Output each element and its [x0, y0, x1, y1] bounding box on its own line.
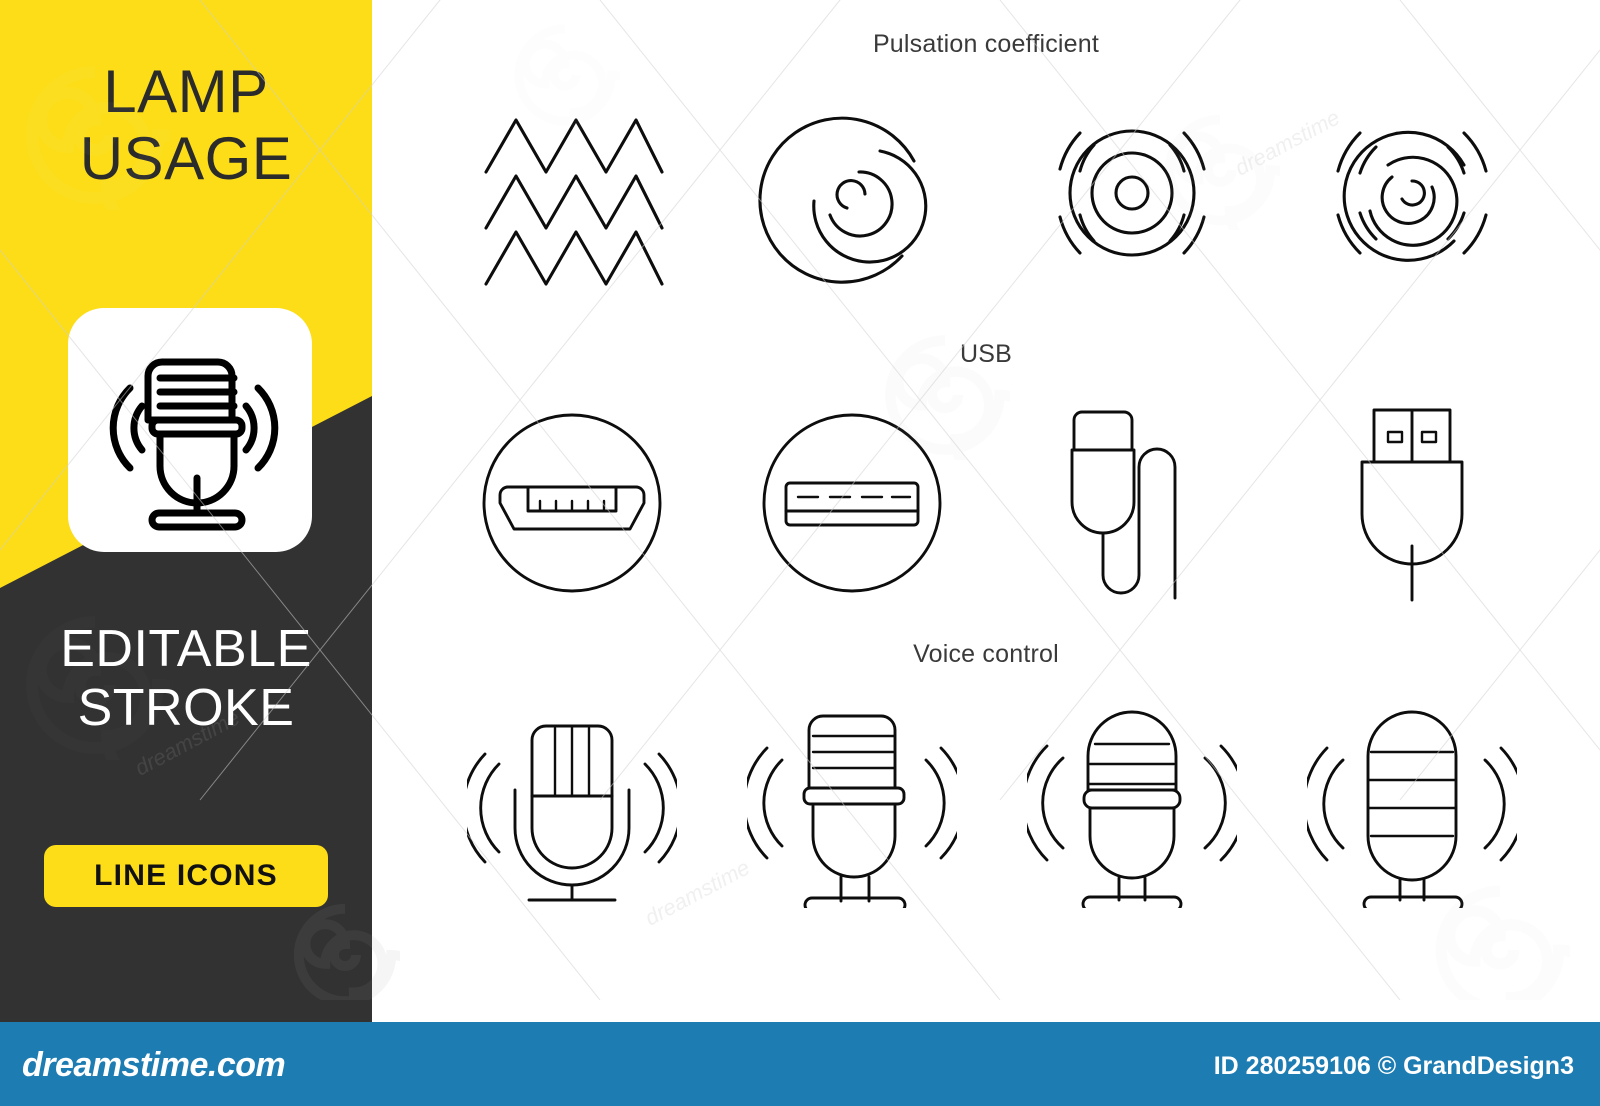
image-id-credit: ID 280259106 © GrandDesign3: [1214, 1052, 1574, 1081]
icon-cell-microphone-striped[interactable]: [432, 688, 712, 918]
zigzag-waves-icon: [472, 98, 672, 288]
icon-row-usb: USB: [372, 340, 1600, 640]
footer-spacer-dark: [0, 1000, 372, 1022]
microphone-rounded-icon: [1307, 698, 1517, 908]
usb-c-cable-icon: [1032, 398, 1232, 608]
footer-bar: dreamstime.com ID 280259106 © GrandDesig…: [0, 1022, 1600, 1106]
icon-cell-spiral-circle[interactable]: [712, 78, 992, 308]
row-label-voice: Voice control: [372, 640, 1600, 669]
icon-row-pulsation: Pulsation coefficient: [372, 30, 1600, 335]
promo-title-line2: USAGE: [0, 125, 372, 192]
icon-cell-usb-a-port[interactable]: [712, 388, 992, 618]
icon-row-voice: Voice control: [372, 640, 1600, 950]
icon-cell-microphone-rounded[interactable]: [1272, 688, 1552, 918]
icon-cell-concentric-rings[interactable]: [992, 78, 1272, 308]
micro-usb-port-circle-icon: [472, 403, 672, 603]
line-icons-badge[interactable]: LINE ICONS: [44, 845, 328, 907]
promo-thumbnail-tile: [68, 308, 312, 552]
poster-canvas: LAMP USAGE: [0, 0, 1600, 1106]
promo-title-line1: LAMP: [0, 58, 372, 125]
icon-cell-spiral-signal[interactable]: [1272, 78, 1552, 308]
line-icons-badge-label: LINE ICONS: [94, 859, 278, 893]
icon-row-pulsation-cells: [432, 78, 1552, 308]
spiral-in-circle-icon: [752, 93, 952, 293]
usb-a-plug-cable-icon: [1312, 398, 1512, 608]
usb-a-port-circle-icon: [752, 403, 952, 603]
icon-cell-microphone-ribbed[interactable]: [712, 688, 992, 918]
icon-cell-micro-usb-port[interactable]: [432, 388, 712, 618]
icon-cell-microphone-capsule[interactable]: [992, 688, 1272, 918]
microphone-ribbed-icon: [747, 698, 957, 908]
icon-board: Pulsation coefficient: [372, 0, 1600, 1000]
microphone-striped-icon: [467, 698, 677, 908]
row-label-pulsation: Pulsation coefficient: [372, 30, 1600, 59]
microphone-capsule-icon: [1027, 698, 1237, 908]
promo-panel: LAMP USAGE: [0, 0, 372, 1000]
icon-row-voice-cells: [432, 688, 1552, 918]
icon-row-usb-cells: [432, 388, 1552, 618]
promo-subtitle-line1: EDITABLE: [0, 620, 372, 679]
promo-subtitle-line2: STROKE: [0, 679, 372, 738]
icon-cell-usb-a-plug[interactable]: [1272, 388, 1552, 618]
concentric-rings-signal-icon: [1032, 93, 1232, 293]
dreamstime-logo[interactable]: dreamstime.com: [22, 1046, 285, 1085]
spiral-signal-arcs-icon: [1312, 93, 1512, 293]
promo-title: LAMP USAGE: [0, 58, 372, 192]
icon-cell-usb-c-cable[interactable]: [992, 388, 1272, 618]
promo-subtitle: EDITABLE STROKE: [0, 620, 372, 738]
icon-cell-zigzag-waves[interactable]: [432, 78, 712, 308]
microphone-waves-icon: [68, 308, 312, 552]
row-label-usb: USB: [372, 340, 1600, 369]
